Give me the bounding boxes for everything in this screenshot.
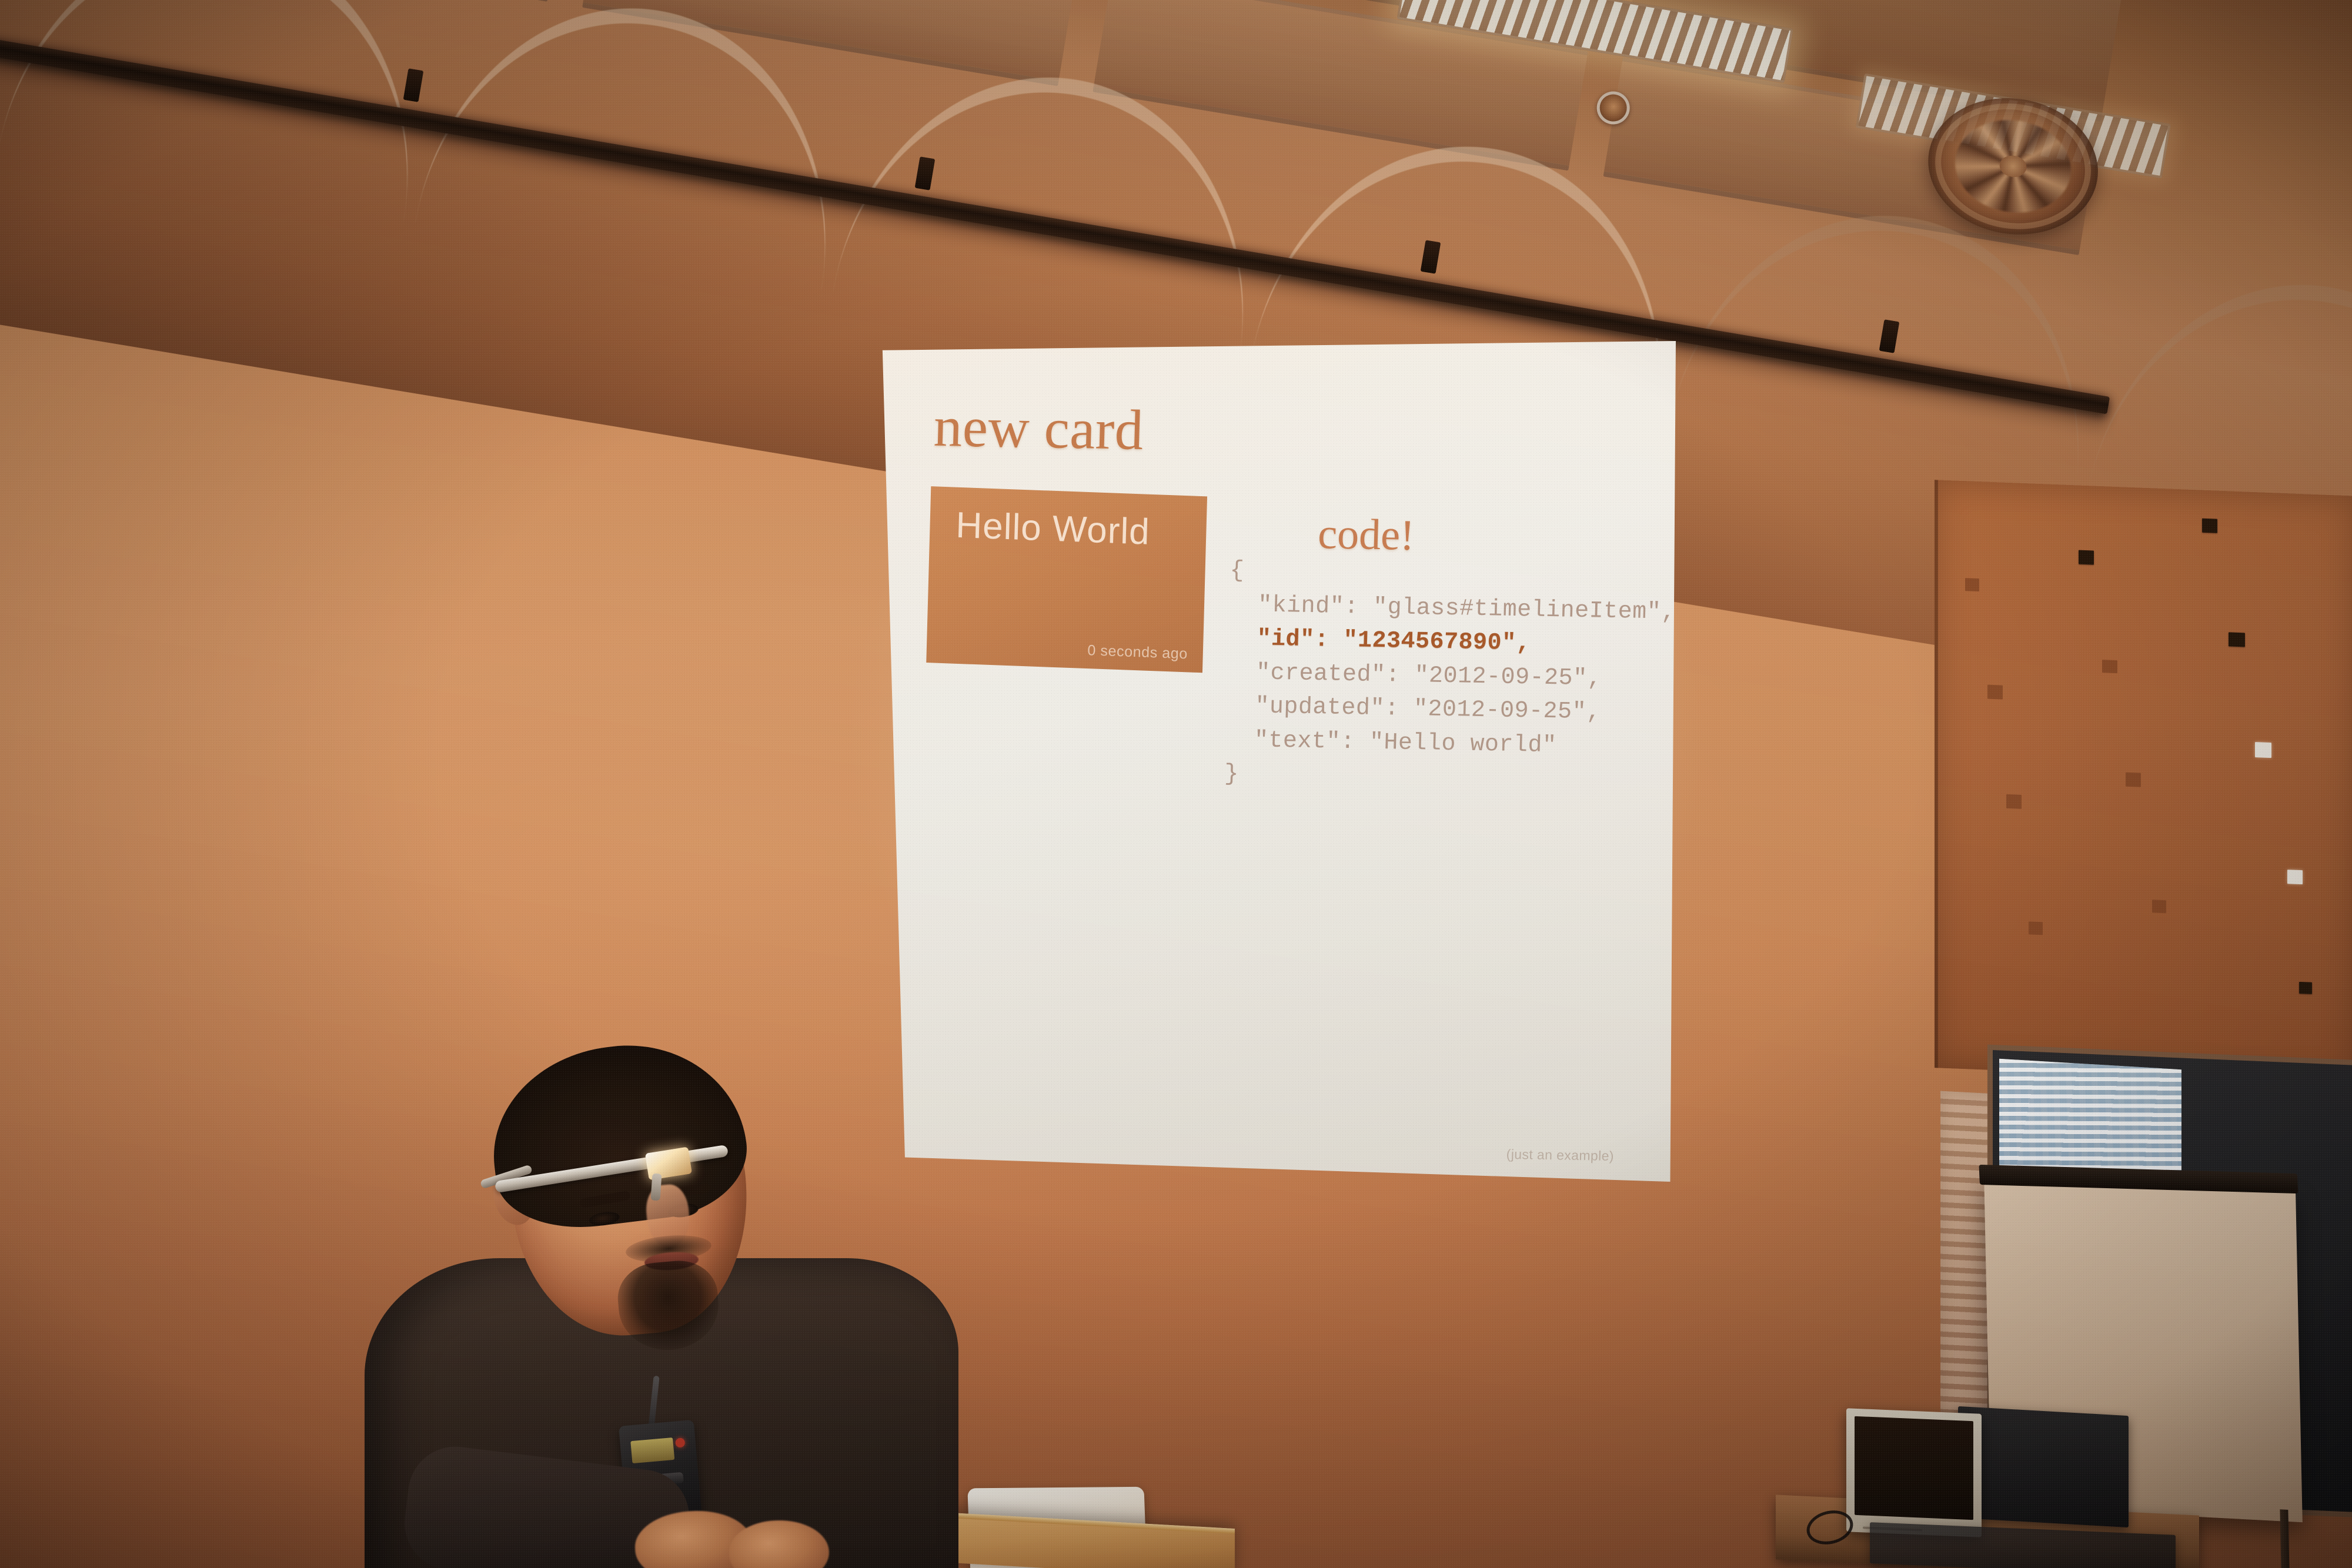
panel-square (1965, 578, 1979, 591)
beltpack-power-led-icon (675, 1437, 685, 1447)
beltpack-display (630, 1437, 674, 1463)
computer-monitor[interactable] (1846, 1408, 1982, 1537)
easel-leg (2280, 1509, 2290, 1568)
panel-square (2287, 870, 2303, 884)
panel-square (2126, 773, 2141, 787)
slide-title: new card (933, 398, 1144, 459)
panel-square (2229, 632, 2245, 647)
panel-edge (1935, 480, 1938, 1068)
slide-subtitle: code! (1317, 512, 1415, 557)
json-code-block: { "kind": "glass#timelineItem", "id": "1… (1224, 554, 1677, 799)
panel-square (2102, 660, 2117, 673)
timeline-card-preview: Hello World 0 seconds ago (926, 486, 1207, 673)
card-title: Hello World (955, 507, 1151, 551)
panel-square (2079, 550, 2094, 565)
acoustic-wall-panel (1935, 480, 2352, 1084)
av-equipment-box (1958, 1406, 2129, 1527)
panel-square (2202, 519, 2217, 533)
google-glass-nosepiece (650, 1173, 661, 1201)
panel-square (2255, 742, 2271, 758)
panel-square (2006, 794, 2022, 809)
panel-square (1987, 685, 2003, 700)
presentation-photo-scene: new card code! Hello World 0 seconds ago… (0, 0, 2352, 1568)
slide-footer-note: (just an example) (1506, 1146, 1614, 1164)
presenter (318, 1047, 1023, 1568)
panel-square (2029, 921, 2043, 935)
panel-square (2152, 900, 2166, 913)
panel-square (2299, 982, 2312, 994)
code-line: } (1224, 757, 1672, 799)
card-timestamp: 0 seconds ago (1087, 642, 1188, 663)
monitor-screen (1855, 1416, 1973, 1519)
